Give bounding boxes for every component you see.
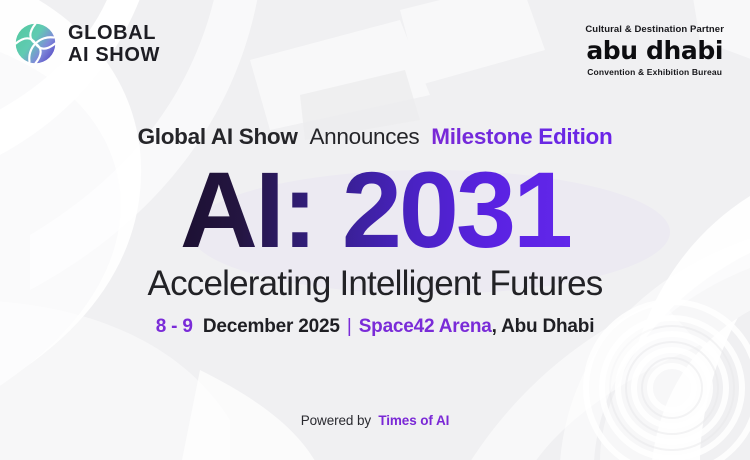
event-venue: Space42 Arena: [359, 316, 492, 337]
eyebrow-brand: Global AI Show: [138, 124, 298, 149]
partner-name: abu dhabi: [585, 36, 724, 65]
eyebrow-accent: Milestone Edition: [431, 124, 612, 149]
event-city: , Abu Dhabi: [492, 316, 595, 337]
brand-wordmark: GLOBAL AI SHOW: [68, 23, 160, 65]
partner-title: Cultural & Destination Partner: [585, 24, 724, 35]
hero-subtitle: Accelerating Intelligent Futures: [148, 266, 603, 303]
meta-separator: |: [345, 316, 354, 337]
partner-logo-block: Cultural & Destination Partner abu dhabi…: [585, 22, 724, 77]
page-title: AI: 2031: [180, 157, 570, 263]
event-month-year: December 2025: [203, 316, 340, 337]
brand-line-1: GLOBAL: [68, 23, 160, 43]
announcement-eyebrow: Global AI Show Announces Milestone Editi…: [138, 126, 613, 149]
partner-subtitle: Convention & Exhibition Bureau: [585, 67, 724, 77]
eyebrow-verb: Announces: [309, 124, 419, 149]
event-dates: 8 - 9: [156, 316, 193, 337]
poster-header: GLOBAL AI SHOW Cultural & Destination Pa…: [0, 0, 750, 96]
promo-poster: GLOBAL AI SHOW Cultural & Destination Pa…: [0, 0, 750, 460]
global-ai-show-logo[interactable]: GLOBAL AI SHOW: [14, 22, 160, 65]
brand-line-2: AI SHOW: [68, 45, 160, 65]
event-meta-line: 8 - 9 December 2025 | Space42 Arena, Abu…: [156, 317, 595, 336]
globe-gradient-icon: [14, 22, 57, 65]
